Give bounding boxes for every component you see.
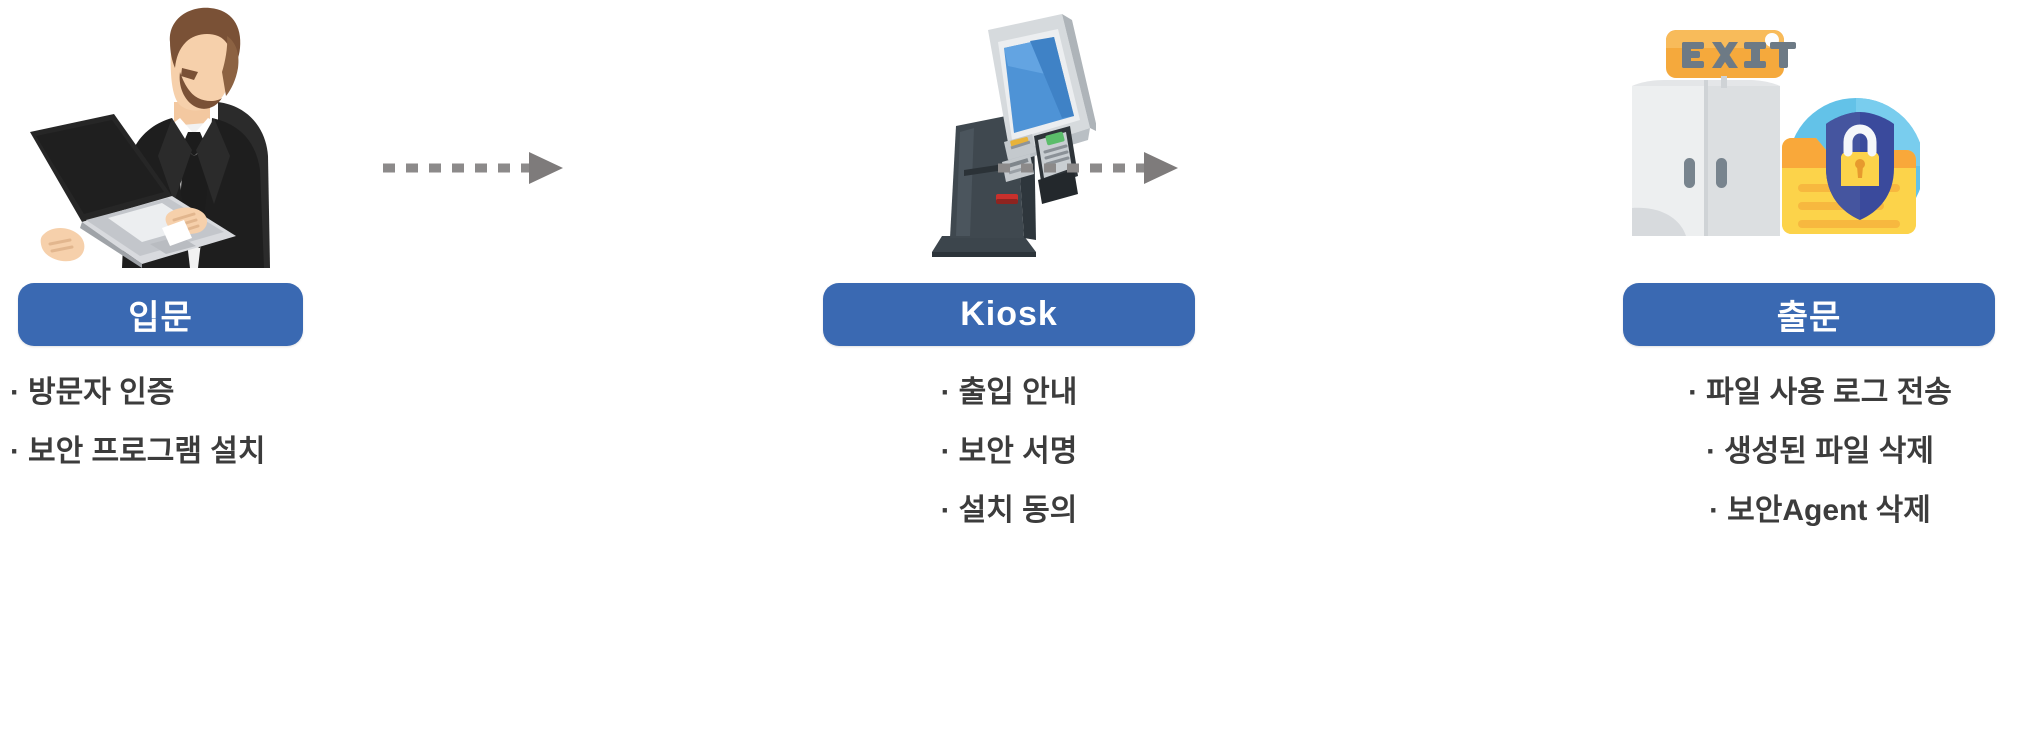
bullet-marker-icon: · [941, 496, 951, 526]
list-item-label: 보안 서명 [959, 435, 1078, 468]
step-label-kiosk[interactable]: Kiosk [823, 283, 1195, 346]
bullet-marker-icon: · [1706, 437, 1716, 467]
step-exit-bullets: ·파일 사용 로그 전송 ·생성된 파일 삭제 ·보안Agent 삭제 [1620, 378, 2020, 555]
step-entry-illustration [0, 0, 360, 270]
step-label-entry[interactable]: 입문 [18, 283, 303, 346]
list-item-label: 파일 사용 로그 전송 [1706, 376, 1952, 409]
step-label-exit[interactable]: 출문 [1623, 283, 1995, 346]
list-item-label: 생성된 파일 삭제 [1724, 435, 1934, 468]
list-item: ·출입 안내 [820, 378, 1198, 408]
list-item: ·보안 서명 [820, 437, 1198, 467]
list-item: ·보안 프로그램 설치 [10, 437, 360, 467]
bullet-marker-icon: · [941, 437, 951, 467]
diagram-canvas: 입문 ·방문자 인증 ·보안 프로그램 설치 [0, 0, 2029, 745]
step-entry: 입문 ·방문자 인증 ·보안 프로그램 설치 [0, 0, 360, 745]
connector-arrow-kiosk-to-exit [998, 150, 1180, 186]
bullet-marker-icon: · [1688, 378, 1698, 408]
businessman-with-laptop-icon [22, 6, 272, 268]
connector-arrow-entry-to-kiosk [383, 150, 565, 186]
list-item: ·생성된 파일 삭제 [1620, 437, 2020, 467]
bullet-marker-icon: · [941, 378, 951, 408]
step-label-entry-text: 입문 [128, 290, 193, 339]
step-kiosk-illustration [820, 0, 1200, 270]
step-entry-bullets: ·방문자 인증 ·보안 프로그램 설치 [10, 378, 360, 496]
step-kiosk: Kiosk ·출입 안내 ·보안 서명 ·설치 동의 [820, 0, 1200, 745]
kiosk-terminal-icon [912, 8, 1096, 258]
list-item-label: 보안Agent 삭제 [1727, 494, 1931, 527]
list-item-label: 설치 동의 [959, 494, 1078, 527]
bullet-marker-icon: · [1709, 496, 1719, 526]
step-label-exit-text: 출문 [1777, 290, 1842, 339]
exit-door-with-secure-folder-icon [1620, 18, 1920, 236]
list-item: ·설치 동의 [820, 496, 1198, 526]
step-exit: 출문 ·파일 사용 로그 전송 ·생성된 파일 삭제 ·보안Agent 삭제 [1620, 0, 2029, 745]
list-item-label: 출입 안내 [959, 376, 1078, 409]
bullet-marker-icon: · [10, 437, 20, 467]
list-item-label: 보안 프로그램 설치 [28, 435, 265, 468]
list-item: ·방문자 인증 [10, 378, 360, 408]
list-item: ·보안Agent 삭제 [1620, 496, 2020, 526]
bullet-marker-icon: · [10, 378, 20, 408]
step-exit-illustration [1620, 0, 2029, 270]
list-item-label: 방문자 인증 [28, 376, 174, 409]
step-label-kiosk-text: Kiosk [960, 295, 1058, 334]
step-kiosk-bullets: ·출입 안내 ·보안 서명 ·설치 동의 [820, 378, 1198, 555]
list-item: ·파일 사용 로그 전송 [1620, 378, 2020, 408]
